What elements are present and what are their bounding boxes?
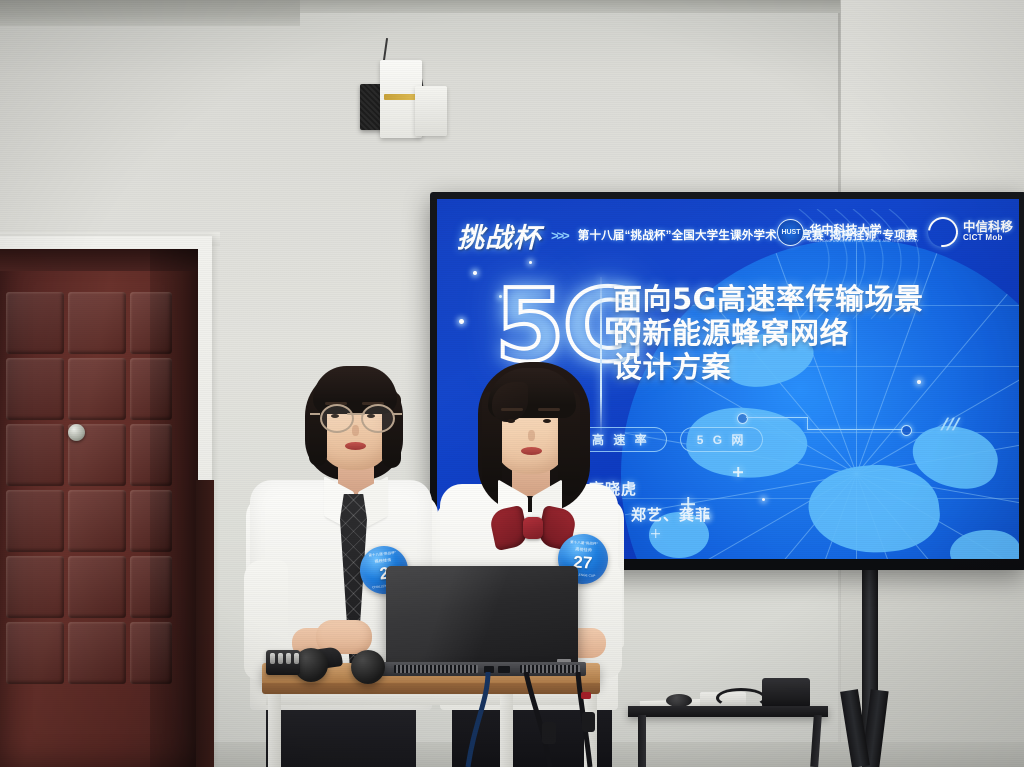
connector-line: [807, 429, 903, 430]
eye: [507, 419, 515, 423]
mouth: [345, 442, 366, 450]
star-dot: [529, 261, 532, 264]
cable-group: [440, 672, 620, 767]
door-panel: [130, 292, 172, 354]
wall-box-white-unit-2: [415, 86, 447, 136]
sponsor-hust: HUST 华中科技大学 HUAZHONG UNIVERSITY OF SCIEN…: [777, 219, 919, 246]
door-panel: [68, 556, 126, 618]
ceiling-soffit-right: [300, 0, 840, 13]
eyebrow: [538, 408, 560, 411]
eyeglass-lens: [361, 404, 395, 433]
eyebrow: [501, 408, 523, 411]
slashes-decoration: ///: [938, 415, 962, 435]
shelf-leg: [638, 715, 646, 767]
title-line-3: 设计方案: [613, 351, 923, 385]
sponsor-cict: 中信科移 CICT Mob: [928, 217, 1013, 247]
badge-subline: 揭榜挂帅: [374, 557, 391, 565]
door-panel: [6, 358, 64, 420]
event-logo: 挑战杯: [457, 216, 541, 255]
door-panel: [68, 622, 126, 684]
eyeglasses-icon: [316, 404, 396, 430]
door-panel: [6, 556, 64, 618]
door-panel: [68, 490, 126, 552]
clicker-button[interactable]: [294, 653, 299, 664]
black-cable: [526, 672, 550, 767]
cable-ferrite: [542, 722, 556, 744]
title-divider: [600, 277, 602, 435]
mouth: [521, 447, 542, 455]
door-panel: [130, 358, 172, 420]
door-panel: [6, 424, 64, 486]
connector-line: [746, 417, 808, 418]
student-names: 郑艺、龚菲: [631, 503, 711, 529]
door-panel: [130, 424, 172, 486]
clicker-button[interactable]: [278, 653, 283, 664]
eyeglass-temple: [310, 413, 320, 415]
door-panel: [130, 622, 172, 684]
shelf-black-adapter: [762, 678, 810, 708]
eyeglass-lens: [320, 404, 354, 433]
door-panel: [68, 358, 126, 420]
clicker-button[interactable]: [286, 653, 291, 664]
title-line-2: 的新能源蜂窝网络: [613, 317, 923, 351]
laptop[interactable]: [386, 566, 578, 670]
equipment-shelf: [628, 706, 828, 717]
star-dot: [459, 319, 464, 324]
cable-red-marker: [581, 692, 591, 699]
badge-event-line: 第十八届“挑战杯”: [570, 540, 598, 547]
eyeglass-bridge: [347, 413, 365, 415]
presenter-clicker[interactable]: [266, 650, 300, 675]
door-panel: [130, 556, 172, 618]
arrows-icon: >>>: [551, 228, 568, 243]
badge-subline: 揭榜挂帅: [575, 546, 592, 553]
wall-box-label: [384, 94, 418, 100]
door-panel: [6, 292, 64, 354]
sponsor-logos: HUST 华中科技大学 HUAZHONG UNIVERSITY OF SCIEN…: [777, 217, 1013, 247]
eyeglass-temple: [392, 413, 402, 415]
wall-mounted-box: [360, 60, 444, 138]
shelf-coiled-cable: [716, 688, 766, 708]
door-panel: [68, 292, 126, 354]
door-side-strip: [196, 480, 214, 767]
title-line-1: 面向5G高速率传输场景: [613, 283, 923, 317]
star-sparkle: [733, 467, 743, 477]
connector-dot: [737, 413, 748, 424]
door-panel: [6, 490, 64, 552]
cict-logo-icon: [922, 211, 964, 253]
podium-leg: [268, 694, 281, 767]
hust-name-en: HUAZHONG UNIVERSITY OF SCIENCE AND TECHN…: [809, 239, 919, 243]
clicker-button[interactable]: [270, 653, 275, 664]
nose: [528, 430, 535, 441]
presenter-left-trousers: [266, 700, 416, 767]
hust-name: 华中科技大学: [809, 221, 919, 238]
microphone-2[interactable]: [351, 650, 385, 684]
hust-seal-icon: HUST: [777, 219, 804, 246]
photo-scene: 挑战杯 >>> 第十八届“挑战杯”全国大学生课外学术作品竞赛“揭榜挂帅”专项赛 …: [0, 0, 1024, 767]
ceiling-soffit-left: [0, 0, 300, 26]
hust-seal-text: HUST: [781, 229, 800, 236]
slide-title: 面向5G高速率传输场景 的新能源蜂窝网络 设计方案: [613, 283, 923, 385]
cable-ferrite: [582, 712, 595, 732]
star-dot: [473, 271, 477, 275]
bowtie-knot: [523, 517, 543, 539]
star-sparkle: [651, 529, 660, 538]
door-panel: [130, 490, 172, 552]
microphone-head: [351, 650, 385, 684]
connector-dot: [901, 425, 912, 436]
cict-name-en: CICT Mob: [963, 234, 1013, 242]
door-panel: [6, 622, 64, 684]
blue-cable: [468, 672, 488, 767]
door-peephole-knob[interactable]: [68, 424, 85, 441]
eye: [543, 419, 551, 423]
connector-decoration: ///: [737, 411, 987, 445]
